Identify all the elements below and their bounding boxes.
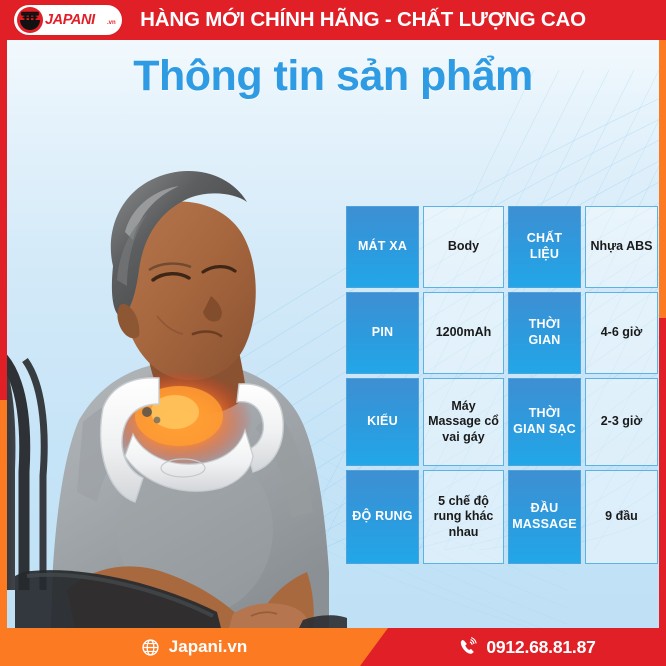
spec-label-massage: MÁT XA [346,206,419,288]
product-photo [7,120,347,628]
wheelchair [7,350,44,590]
page-title: Thông tin sản phẩm [0,52,666,101]
left-border-red [0,40,7,400]
torii-gate-icon [18,9,42,31]
phone-ringing-icon [458,637,478,657]
product-info-banner: Thông tin sản phẩm MÁT XA Body CHẤT LIỆU… [0,0,666,666]
japani-logo[interactable]: JAPANI .vn [14,5,122,35]
spec-label-heads: ĐẦU MASSAGE [508,470,581,564]
left-border-orange [0,400,7,628]
spec-label-type: KIỂU [346,378,419,466]
footer-website-label: Japani.vn [169,637,247,657]
spec-value-battery: 1200mAh [423,292,504,374]
spec-value-usetime: 4-6 giờ [585,292,658,374]
spec-label-vibration: ĐỘ RUNG [346,470,419,564]
spec-value-chargetime: 2-3 giờ [585,378,658,466]
top-banner: HÀNG MỚI CHÍNH HÃNG - CHẤT LƯỢNG CAO JAP… [0,0,666,40]
globe-icon [141,638,160,657]
footer-phone[interactable]: 0912.68.81.87 [388,628,666,666]
spec-value-heads: 9 đầu [585,470,658,564]
logo-suffix: .vn [107,20,116,26]
spec-label-material: CHẤT LIỆU [508,206,581,288]
right-border-orange [659,40,666,318]
footer-phone-label: 0912.68.81.87 [486,637,595,658]
spec-label-usetime: THỜI GIAN [508,292,581,374]
spec-value-type: Máy Massage cổ vai gáy [423,378,504,466]
spec-label-battery: PIN [346,292,419,374]
logo-wordmark: JAPANI [45,11,95,29]
spec-label-chargetime: THỜI GIAN SẠC [508,378,581,466]
spec-value-vibration: 5 chế độ rung khác nhau [423,470,504,564]
right-border-red [659,318,666,628]
spec-value-material: Nhựa ABS [585,206,658,288]
spec-value-massage: Body [423,206,504,288]
spec-table: MÁT XA Body CHẤT LIỆU Nhựa ABS PIN 1200m… [346,206,650,564]
footer-website[interactable]: Japani.vn [0,628,388,666]
footer-bar: Japani.vn 0912.68.81.87 [0,628,666,666]
